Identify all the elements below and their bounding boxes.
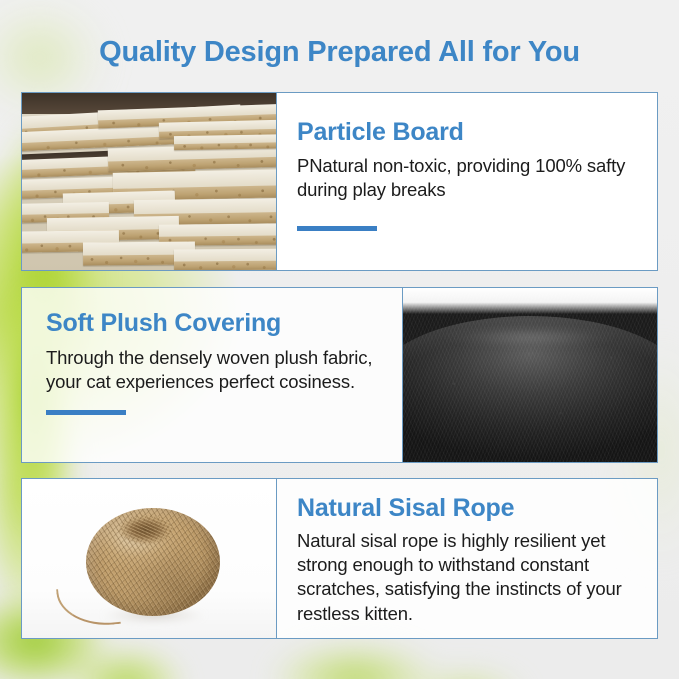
particle-board-stack-image xyxy=(22,93,276,270)
feature-card-particle-board: Particle Board PNatural non-toxic, provi… xyxy=(21,92,658,271)
accent-underline xyxy=(46,410,126,415)
card-heading: Particle Board xyxy=(297,119,639,147)
card-body: Natural sisal rope is highly resilient y… xyxy=(297,529,639,627)
sisal-rope-ball-image xyxy=(22,479,276,638)
feature-card-natural-sisal-rope: Natural Sisal Rope Natural sisal rope is… xyxy=(21,478,658,639)
black-plush-fabric-image xyxy=(403,288,657,462)
particle-board-text-block: Particle Board PNatural non-toxic, provi… xyxy=(277,93,657,270)
sisal-rope-text-block: Natural Sisal Rope Natural sisal rope is… xyxy=(277,479,657,638)
card-heading: Natural Sisal Rope xyxy=(297,495,639,523)
soft-plush-text-block: Soft Plush Covering Through the densely … xyxy=(22,288,402,462)
accent-underline xyxy=(297,226,377,231)
feature-card-soft-plush-covering: Soft Plush Covering Through the densely … xyxy=(21,287,658,463)
card-body: PNatural non-toxic, providing 100% safty… xyxy=(297,154,639,203)
page-title: Quality Design Prepared All for You xyxy=(0,36,679,69)
card-heading: Soft Plush Covering xyxy=(46,310,384,338)
card-body: Through the densely woven plush fabric, … xyxy=(46,346,384,395)
